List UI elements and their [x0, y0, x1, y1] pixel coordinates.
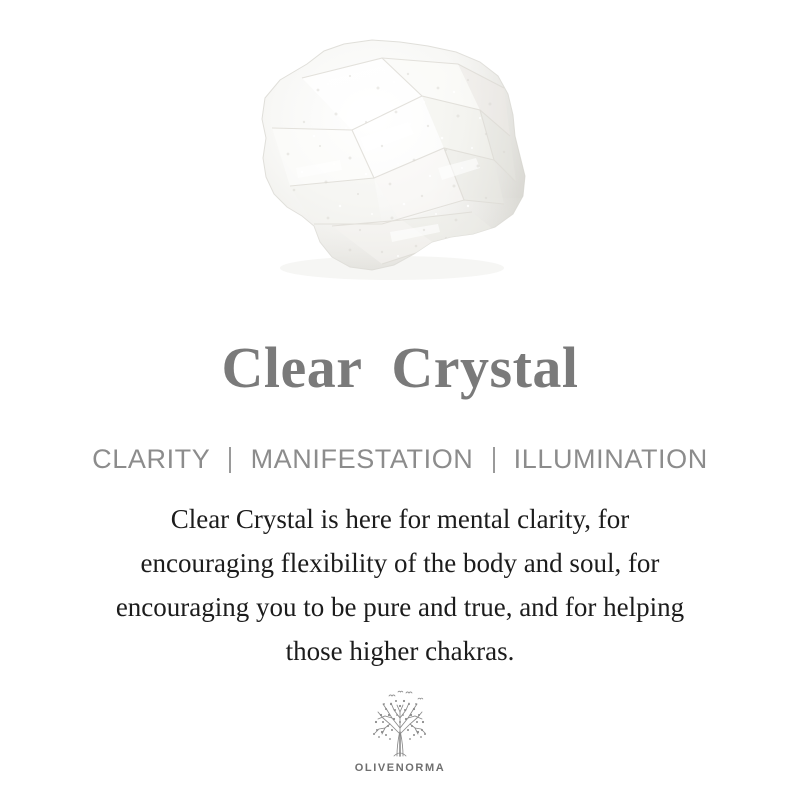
page-title: Clear Crystal — [0, 336, 800, 400]
description-line: those higher chakras. — [30, 629, 770, 673]
product-info-card: Clear Crystal CLARITY MANIFESTATION ILLU… — [0, 0, 800, 800]
keyword-separator — [493, 447, 495, 473]
description-line: Clear Crystal is here for mental clarity… — [30, 497, 770, 541]
description-line: encouraging you to be pure and true, and… — [30, 585, 770, 629]
tree-icon — [361, 688, 439, 760]
keyword-clarity: CLARITY — [92, 443, 210, 476]
keyword-illumination: ILLUMINATION — [514, 443, 708, 476]
brand-name: OLIVENORMA — [0, 762, 800, 774]
clear-crystal-stone-icon — [232, 18, 532, 303]
description-line: encouraging flexibility of the body and … — [30, 541, 770, 585]
description-text: Clear Crystal is here for mental clarity… — [30, 497, 770, 673]
product-image-container — [0, 0, 800, 320]
keyword-manifestation: MANIFESTATION — [251, 443, 474, 476]
keyword-separator — [229, 447, 231, 473]
brand-logo: OLIVENORMA — [0, 688, 800, 774]
keyword-list: CLARITY MANIFESTATION ILLUMINATION — [0, 443, 800, 476]
